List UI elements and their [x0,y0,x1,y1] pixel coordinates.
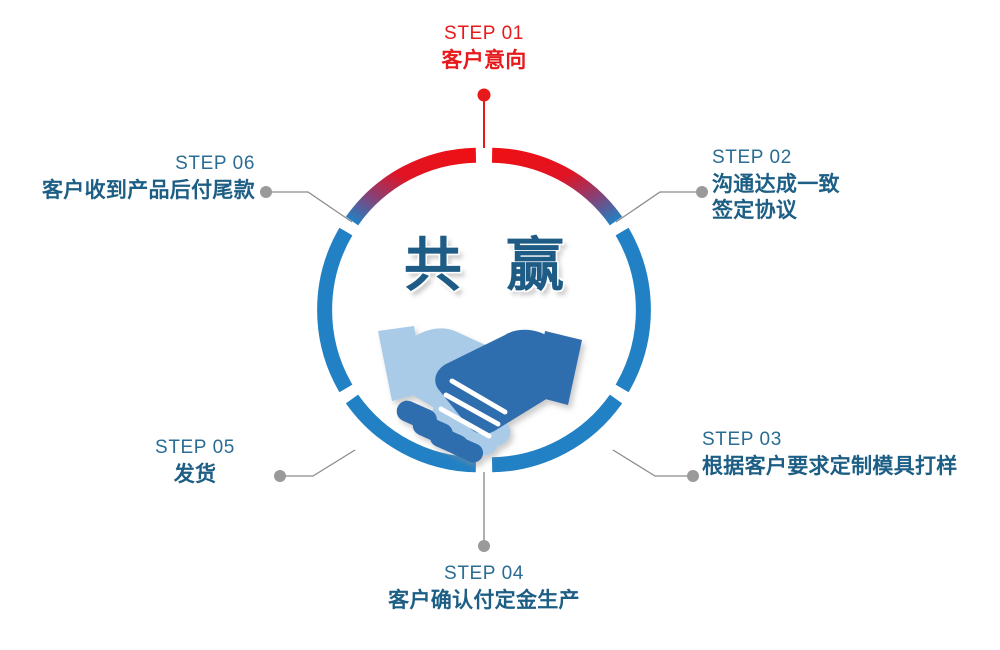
dot-step-02 [696,186,708,198]
connector-step-06 [271,192,352,222]
connector-step-02 [616,192,697,222]
step-label-04[interactable]: STEP 04 客户确认付定金生产 [384,562,584,614]
step-title-01: 客户意向 [384,48,584,74]
infographic-canvas: 共 赢 STEP 01 客户意向 STEP 02 沟通达成一致 签定协议 STE… [0,0,1000,650]
connector-step-03 [613,450,688,476]
step-title-02-line1: 沟通达成一致 [712,173,840,196]
connector-step-05 [285,450,355,476]
step-label-05[interactable]: STEP 05 发货 [100,436,290,488]
step-number-05: STEP 05 [100,436,290,459]
step-number-04: STEP 04 [384,562,584,585]
step-title-03: 根据客户要求定制模具打样 [702,454,992,480]
step-title-01-line1: 客户意向 [441,49,526,72]
step-number-03: STEP 03 [702,428,992,451]
step-title-05-line1: 发货 [174,463,217,486]
ring-segment-2 [622,232,643,389]
dot-step-01 [478,89,491,102]
step-label-02[interactable]: STEP 02 沟通达成一致 签定协议 [712,146,972,223]
step-label-01[interactable]: STEP 01 客户意向 [384,22,584,74]
process-circle-diagram [0,0,1000,650]
center-word: 共 赢 [384,218,584,302]
ring-segment-1 [492,155,616,221]
step-title-04-line1: 客户确认付定金生产 [388,589,580,612]
step-label-06[interactable]: STEP 06 客户收到产品后付尾款 [10,152,255,204]
ring-segment-5 [325,232,346,389]
step-number-01: STEP 01 [384,22,584,45]
step-title-05: 发货 [100,462,290,488]
ring-segment-6 [352,155,476,221]
dot-step-04 [478,540,490,552]
step-title-02: 沟通达成一致 签定协议 [712,172,972,223]
step-title-03-line1: 根据客户要求定制模具打样 [702,455,958,478]
dot-step-06 [260,186,272,198]
step-title-06: 客户收到产品后付尾款 [10,178,255,204]
step-number-06: STEP 06 [10,152,255,175]
step-title-06-line1: 客户收到产品后付尾款 [42,179,255,202]
step-title-02-line2: 签定协议 [712,198,972,224]
dot-step-03 [687,470,699,482]
step-number-02: STEP 02 [712,146,972,169]
step-label-03[interactable]: STEP 03 根据客户要求定制模具打样 [702,428,992,480]
step-title-04: 客户确认付定金生产 [384,588,584,614]
